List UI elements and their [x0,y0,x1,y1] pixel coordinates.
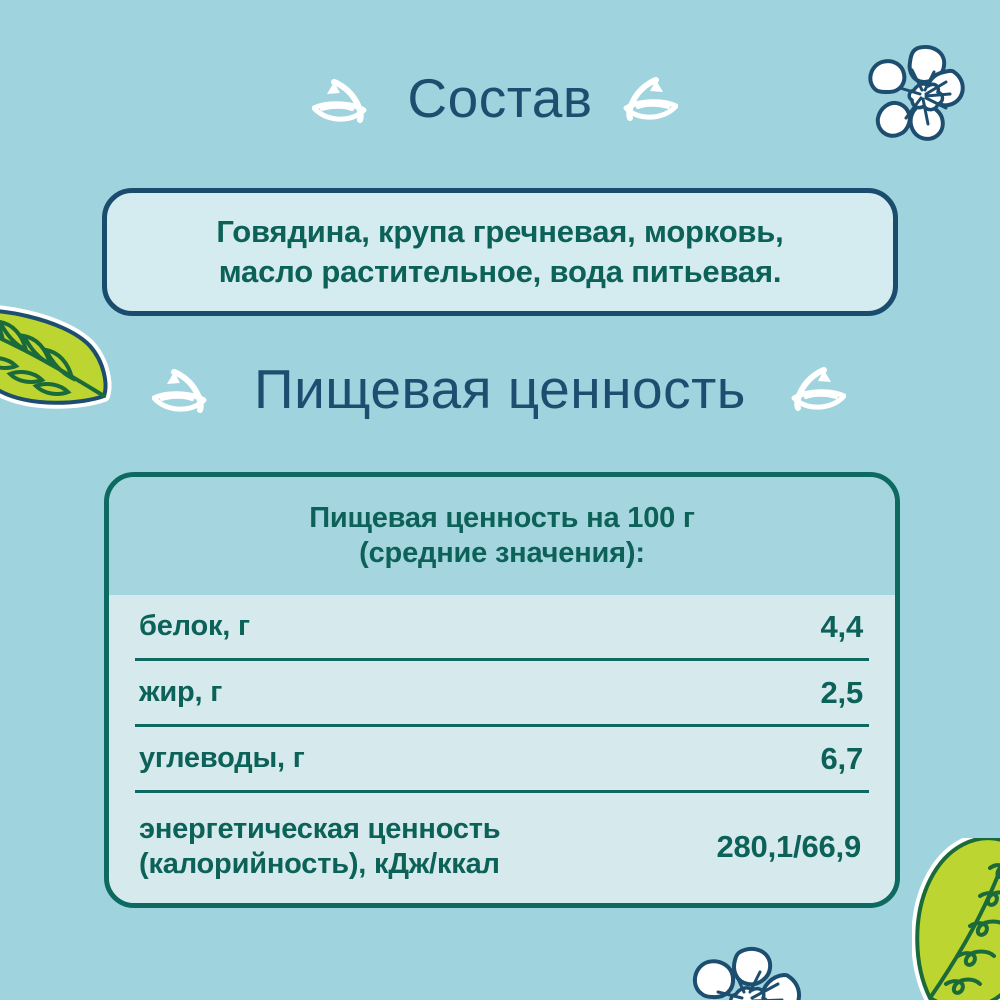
flower-icon [690,944,810,1000]
nutrition-header-line-2: (средние значения): [359,536,645,571]
nutrient-value: 2,5 [821,675,866,711]
nutrient-label: белок, г [139,609,250,644]
table-row: углеводы, г 6,7 [135,727,869,793]
table-row: жир, г 2,5 [135,661,869,727]
nutrient-label: энергетическая ценность (калорийность), … [139,812,500,882]
product-label-panel: Состав Говядина, крупа гречневая, морков… [0,0,1000,1000]
nutrition-table-body: белок, г 4,4 жир, г 2,5 углеводы, г 6,7 … [109,595,895,903]
nutrient-label: жир, г [139,675,222,710]
nutrient-label: углеводы, г [139,741,305,776]
nutrition-card: Пищевая ценность на 100 г (средние значе… [104,472,900,908]
ingredients-card: Говядина, крупа гречневая, морковь, масл… [102,188,898,316]
nutrition-header-line-1: Пищевая ценность на 100 г [309,501,695,536]
leaf-icon [912,838,1000,1000]
nutrient-value: 6,7 [821,741,866,777]
ingredients-text: Говядина, крупа гречневая, морковь, масл… [216,212,783,291]
table-row: белок, г 4,4 [135,595,869,661]
nutrient-value: 4,4 [821,609,866,645]
nutrient-value: 280,1/66,9 [716,829,865,865]
page-title-ingredients: Состав [0,66,1000,130]
page-title-nutrition: Пищевая ценность [0,357,1000,421]
nutrition-table-header: Пищевая ценность на 100 г (средние значе… [109,477,895,595]
table-row: энергетическая ценность (калорийность), … [135,793,869,901]
